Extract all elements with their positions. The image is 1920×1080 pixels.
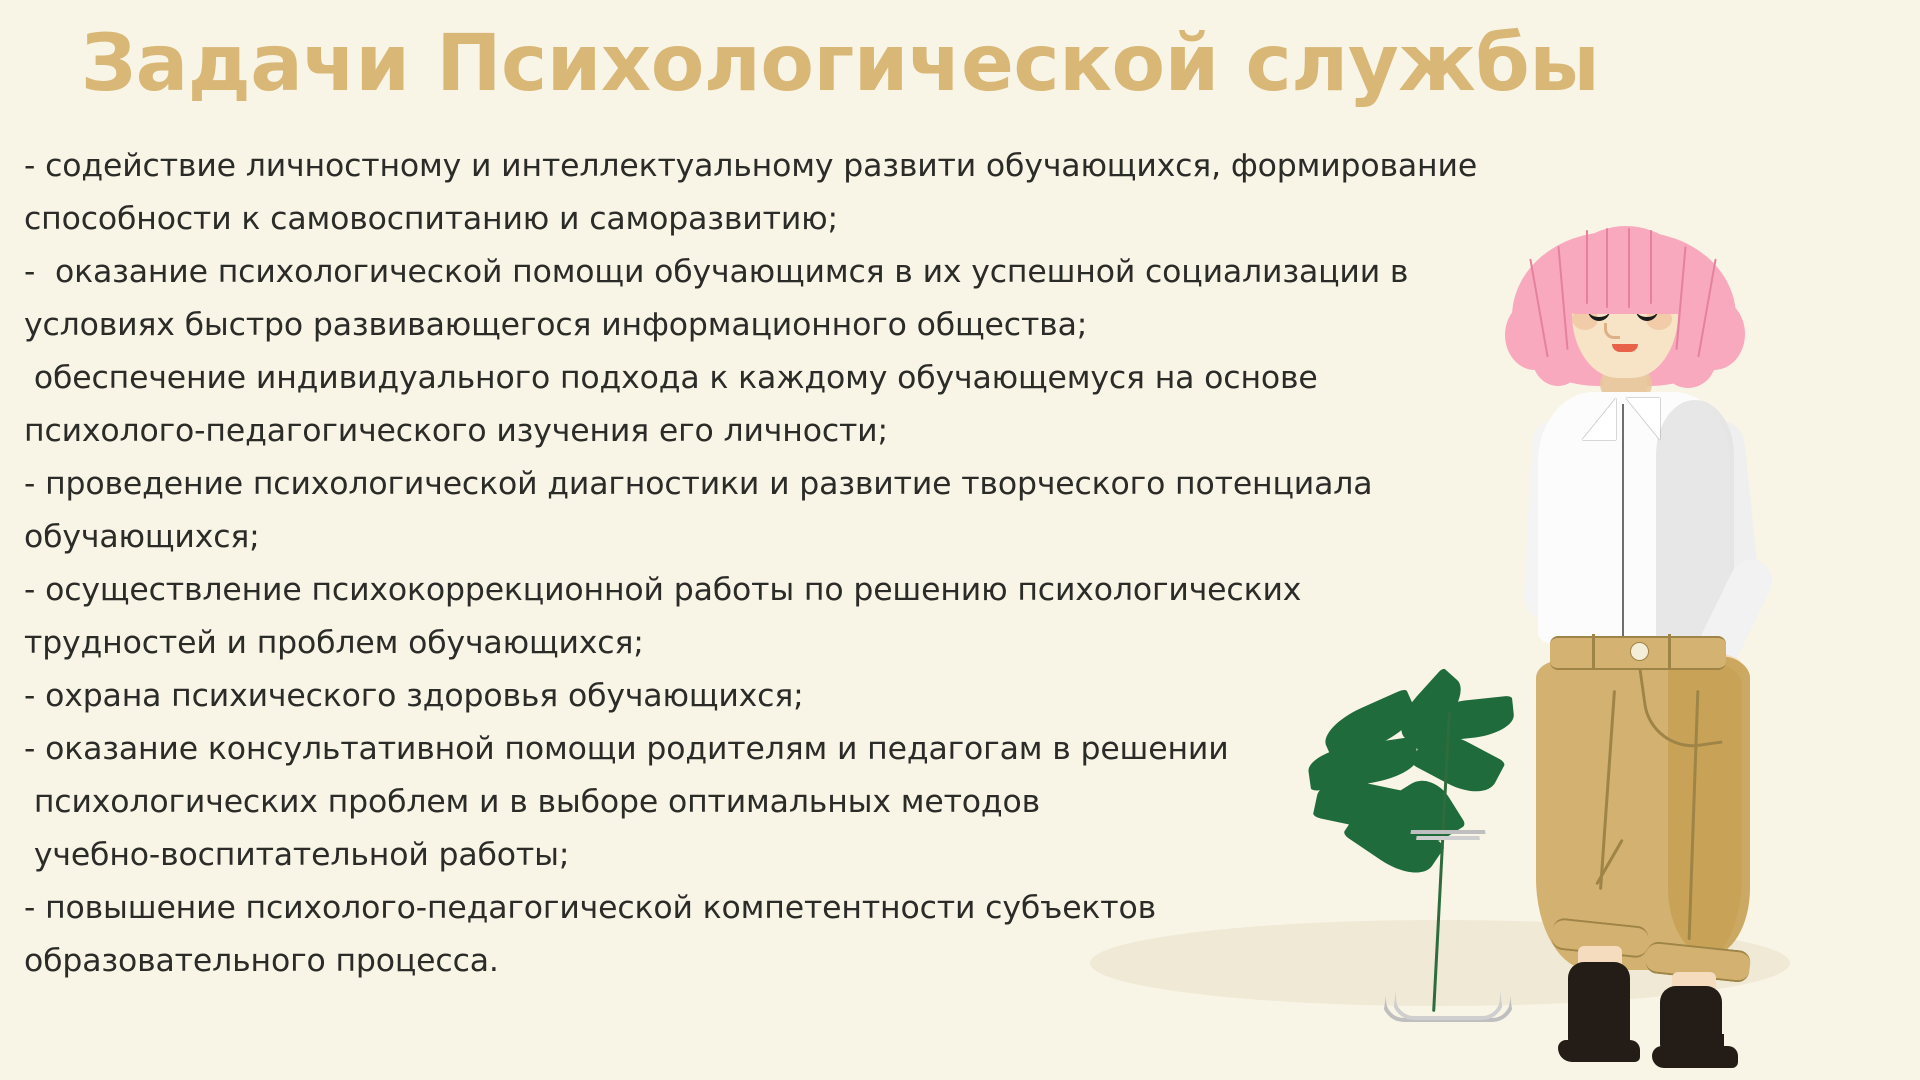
list-item: - оказание психологической помощи обучаю…	[24, 246, 1784, 299]
list-item: психолого-педагогического изучения его л…	[24, 405, 1784, 458]
boot-right-sole	[1652, 1046, 1738, 1068]
list-item: образовательного процесса.	[24, 935, 1784, 988]
list-item: обучающихся;	[24, 511, 1784, 564]
page-title: Задачи Психологической службы	[0, 24, 1680, 106]
list-item: - осуществление психокоррекционной работ…	[24, 564, 1784, 617]
list-item: учебно-воспитательной работы;	[24, 829, 1784, 882]
list-item: условиях быстро развивающегося информаци…	[24, 299, 1784, 352]
list-item: - охрана психического здоровья обучающих…	[24, 670, 1784, 723]
slide-canvas: Задачи Психологической службы - содейств…	[0, 0, 1920, 1080]
tasks-list: - содействие личностному и интеллектуаль…	[24, 140, 1784, 988]
list-item: - проведение психологической диагностики…	[24, 458, 1784, 511]
list-item: трудностей и проблем обучающихся;	[24, 617, 1784, 670]
list-item: - повышение психолого-педагогической ком…	[24, 882, 1784, 935]
list-item: - оказание консультативной помощи родите…	[24, 723, 1784, 776]
list-item: обеспечение индивидуального подхода к ка…	[24, 352, 1784, 405]
list-item: - содействие личностному и интеллектуаль…	[24, 140, 1784, 193]
boot-heel	[1702, 1034, 1724, 1068]
list-item: способности к самовоспитанию и саморазви…	[24, 193, 1784, 246]
boot-right	[1660, 986, 1722, 1064]
boot-left-sole	[1558, 1040, 1640, 1062]
list-item: психологических проблем и в выборе оптим…	[24, 776, 1784, 829]
